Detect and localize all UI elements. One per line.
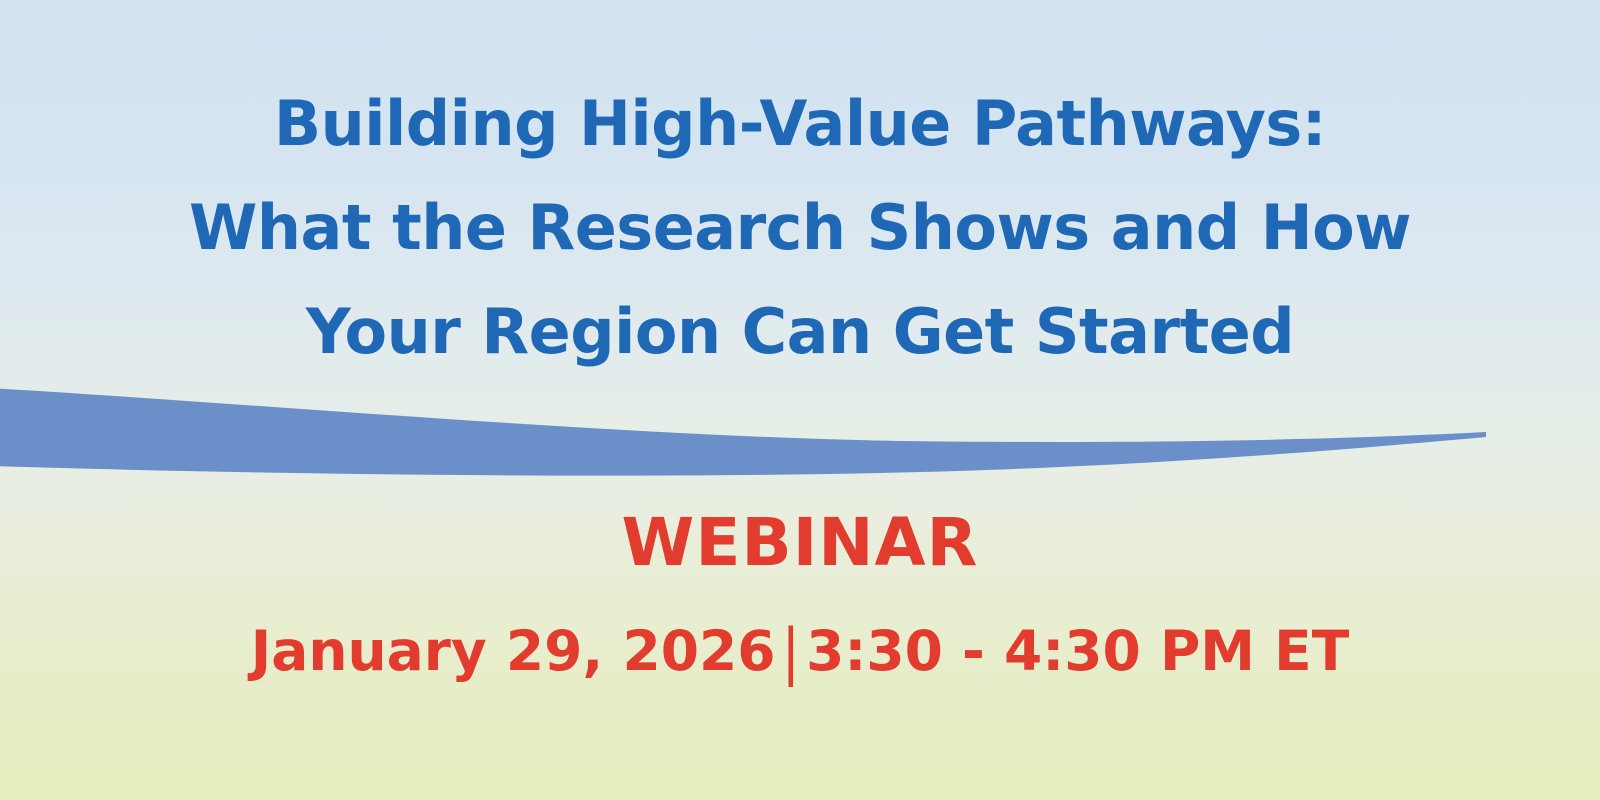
title-line-3: Your Region Can Get Started: [0, 280, 1600, 384]
title-line-1: Building High-Value Pathways:: [0, 72, 1600, 176]
webinar-promo-banner: Building High-Value Pathways: What the R…: [0, 0, 1600, 800]
wave-shape: [0, 388, 1486, 476]
title-line-2: What the Research Shows and How: [0, 176, 1600, 280]
event-type-label: WEBINAR: [0, 505, 1600, 581]
datetime-separator: |: [776, 608, 807, 693]
page-title: Building High-Value Pathways: What the R…: [0, 72, 1600, 384]
event-date: January 29, 2026: [251, 613, 776, 689]
event-time: 3:30 - 4:30 PM ET: [806, 613, 1349, 689]
event-datetime: January 29, 2026|3:30 - 4:30 PM ET: [0, 613, 1600, 689]
